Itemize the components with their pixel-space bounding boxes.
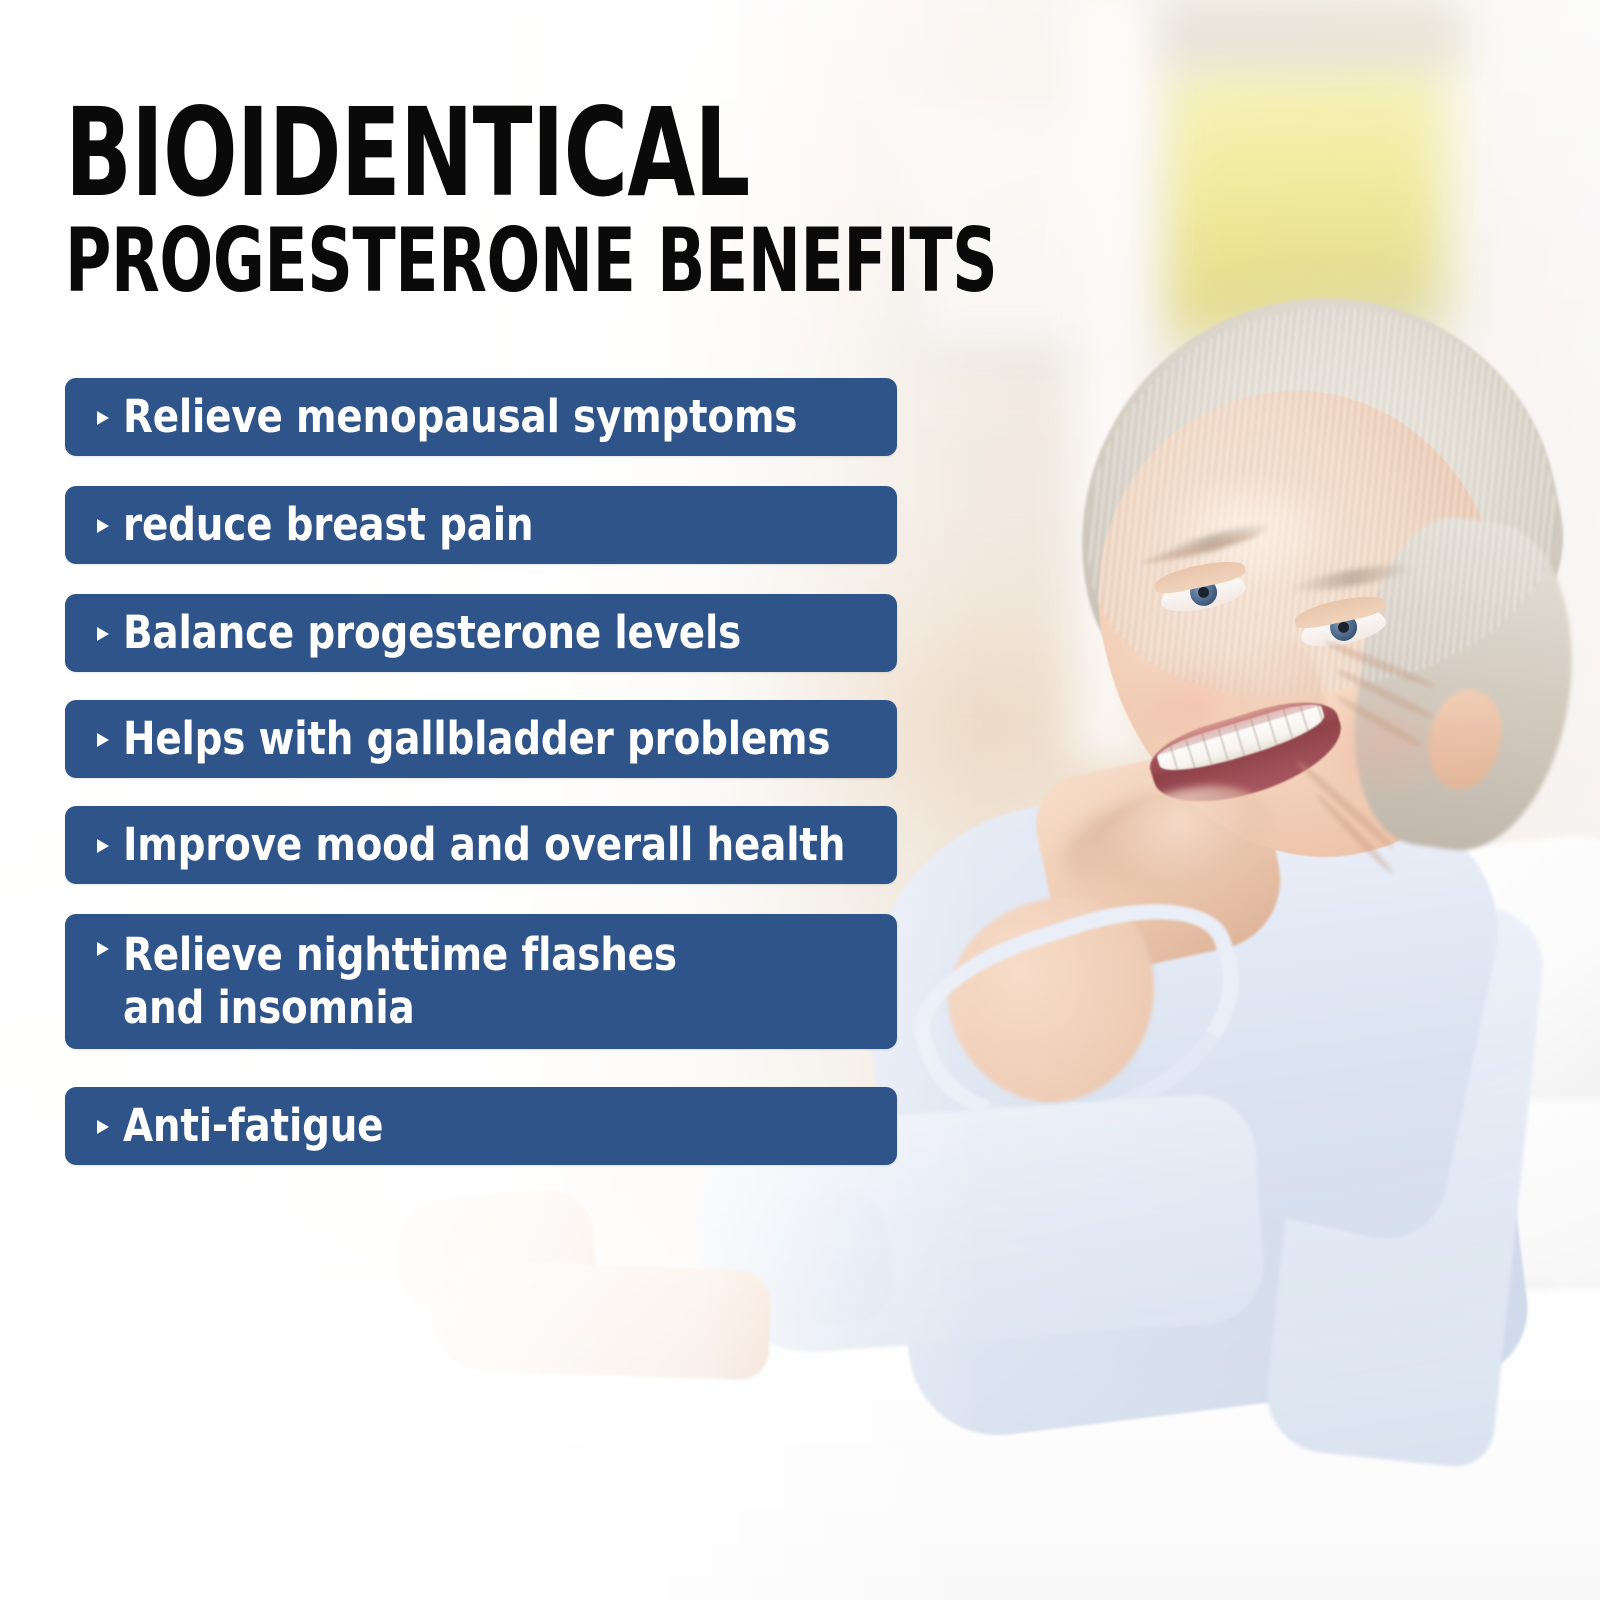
- triangle-right-icon: [95, 408, 111, 428]
- poster-title-line2: PROGESTERONE BENEFITS: [65, 221, 785, 302]
- poster-content: BIOIDENTICAL PROGESTERONE BENEFITS Relie…: [0, 0, 1600, 1600]
- benefit-label: Relieve menopausal symptoms: [123, 394, 797, 440]
- triangle-right-icon: [95, 730, 111, 750]
- triangle-right-icon: [95, 939, 111, 959]
- benefit-item-2[interactable]: reduce breast pain: [65, 486, 897, 564]
- triangle-right-icon: [95, 624, 111, 644]
- infographic-poster: BIOIDENTICAL PROGESTERONE BENEFITS Relie…: [0, 0, 1600, 1600]
- title-block: BIOIDENTICAL PROGESTERONE BENEFITS: [65, 100, 965, 302]
- benefit-label: Anti-fatigue: [123, 1103, 383, 1149]
- triangle-right-icon: [95, 1117, 111, 1137]
- benefit-item-3[interactable]: Balance progesterone levels: [65, 594, 897, 672]
- benefit-label: Improve mood and overall health: [123, 822, 845, 868]
- benefit-label: Balance progesterone levels: [123, 610, 741, 656]
- benefit-label: Relieve nighttime flashes and insomnia: [123, 928, 677, 1034]
- benefit-item-7[interactable]: Anti-fatigue: [65, 1087, 897, 1165]
- benefit-label: reduce breast pain: [123, 502, 533, 548]
- benefit-item-1[interactable]: Relieve menopausal symptoms: [65, 378, 897, 456]
- benefit-item-5[interactable]: Improve mood and overall health: [65, 806, 897, 884]
- benefit-item-6[interactable]: Relieve nighttime flashes and insomnia: [65, 914, 897, 1049]
- triangle-right-icon: [95, 516, 111, 536]
- triangle-right-icon: [95, 836, 111, 856]
- benefits-list: Relieve menopausal symptoms reduce breas…: [65, 378, 897, 1165]
- benefit-item-4[interactable]: Helps with gallbladder problems: [65, 700, 897, 778]
- poster-title-line1: BIOIDENTICAL: [65, 100, 785, 207]
- benefit-label: Helps with gallbladder problems: [123, 716, 830, 762]
